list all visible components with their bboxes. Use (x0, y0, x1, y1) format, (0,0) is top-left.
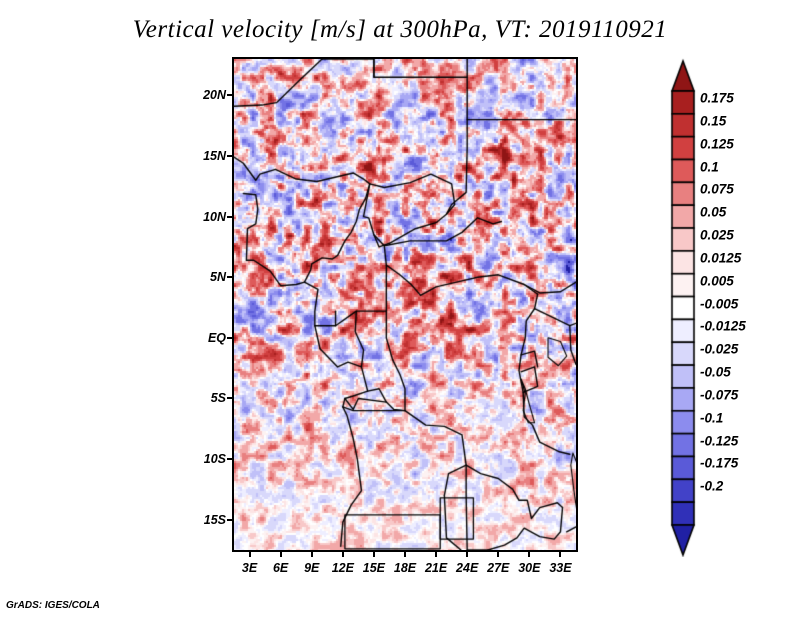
colorbar-tick-label: 0.175 (700, 91, 734, 106)
y-axis-tick-label: 10S (186, 452, 226, 466)
x-axis-tick (497, 552, 499, 557)
x-axis-tick-label: 24E (456, 561, 478, 575)
x-axis-tick-label: 30E (518, 561, 540, 575)
x-axis-tick-label: 21E (425, 561, 447, 575)
y-axis-tick-label: 20N (186, 88, 226, 102)
x-axis-tick-label: 18E (394, 561, 416, 575)
y-axis-tick-label: 15N (186, 149, 226, 163)
colorbar-tick-label: 0.15 (700, 113, 726, 128)
x-axis-tick (373, 552, 375, 557)
x-axis-tick (559, 552, 561, 557)
colorbar-tick-label: -0.05 (700, 365, 731, 380)
colorbar-tick-label: -0.2 (700, 479, 723, 494)
colorbar-tick-label: -0.025 (700, 342, 738, 357)
colorbar-tick-label: 0.1 (700, 159, 719, 174)
x-axis-tick (342, 552, 344, 557)
page-title: Vertical velocity [m/s] at 300hPa, VT: 2… (0, 16, 800, 44)
colorbar-tick-label: 0.05 (700, 205, 726, 220)
y-axis-tick (227, 397, 232, 399)
y-axis-tick (227, 216, 232, 218)
colorbar-tick-label: 0.075 (700, 182, 734, 197)
colorbar-tick-label: -0.0125 (700, 319, 746, 334)
y-axis-tick-label: 15S (186, 513, 226, 527)
credit-label: GrADS: IGES/COLA (6, 600, 100, 611)
colorbar-tick-label: -0.1 (700, 410, 723, 425)
x-axis-tick-label: 33E (549, 561, 571, 575)
y-axis-tick-label: 10N (186, 210, 226, 224)
x-axis-tick-label: 12E (332, 561, 354, 575)
x-axis-tick (311, 552, 313, 557)
map-plot-area (232, 57, 578, 552)
y-axis-tick-label: EQ (186, 331, 226, 345)
x-axis-tick (404, 552, 406, 557)
vertical-velocity-heatmap (234, 59, 576, 550)
colorbar: 0.1750.150.1250.10.0750.050.0250.01250.0… (668, 57, 798, 557)
x-axis-tick-label: 3E (242, 561, 257, 575)
y-axis-tick (227, 155, 232, 157)
x-axis-tick (466, 552, 468, 557)
colorbar-tick-label: 0.0125 (700, 250, 741, 265)
colorbar-tick-label: 0.125 (700, 136, 734, 151)
y-axis-tick (227, 519, 232, 521)
x-axis-tick (528, 552, 530, 557)
x-axis-tick-label: 15E (363, 561, 385, 575)
y-axis-tick-label: 5S (186, 391, 226, 405)
colorbar-tick-label: -0.175 (700, 456, 738, 471)
colorbar-tick-label: -0.075 (700, 387, 738, 402)
x-axis-tick (249, 552, 251, 557)
colorbar-tick-label: -0.005 (700, 296, 738, 311)
y-axis-tick (227, 458, 232, 460)
x-axis-tick (435, 552, 437, 557)
colorbar-tick-label: -0.125 (700, 433, 738, 448)
x-axis-tick (280, 552, 282, 557)
colorbar-tick-label: 0.005 (700, 273, 734, 288)
y-axis-tick-label: 5N (186, 270, 226, 284)
x-axis-tick-label: 9E (304, 561, 319, 575)
y-axis-tick (227, 337, 232, 339)
colorbar-tick-label: 0.025 (700, 228, 734, 243)
x-axis-tick-label: 27E (487, 561, 509, 575)
y-axis-tick (227, 276, 232, 278)
x-axis-tick-label: 6E (273, 561, 288, 575)
y-axis-tick (227, 94, 232, 96)
